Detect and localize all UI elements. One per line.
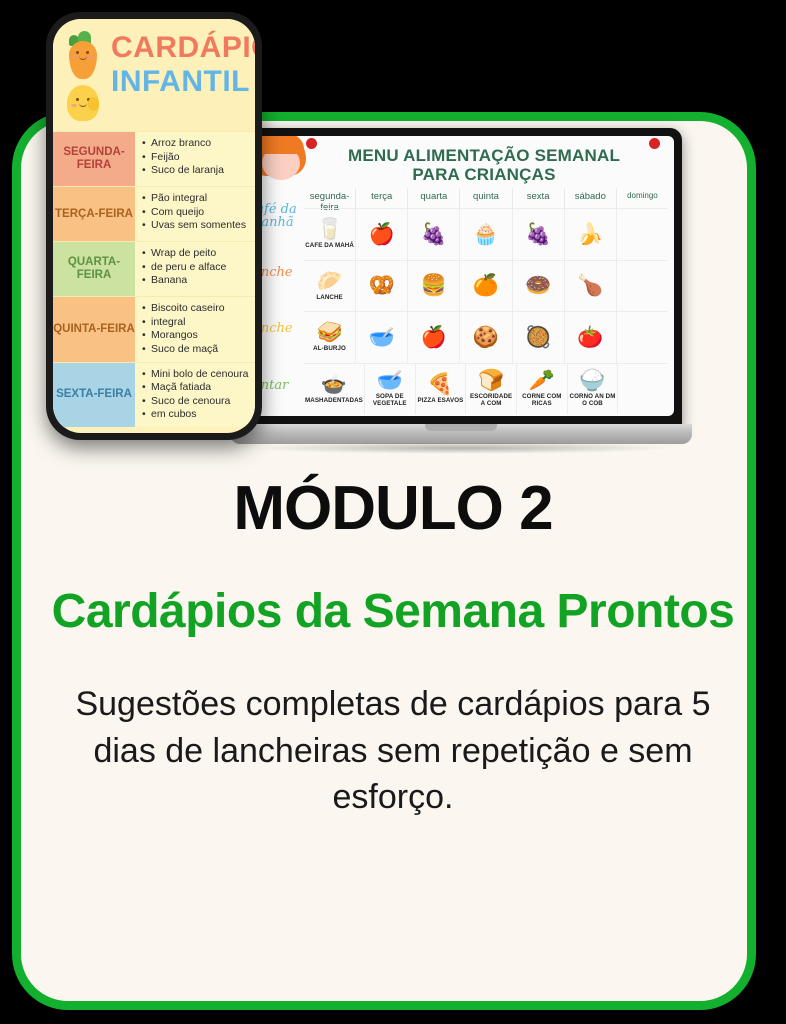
phone-day-items: Mini bolo de cenoura Maçã fatiada Suco d… [135,363,255,428]
menu-cell: 🍇 [512,208,564,260]
laptop-menu-title: MENU ALIMENTAÇÃO SEMANAL PARA CRIANÇAS [304,146,664,185]
table-row: 🥛CAFE DA MAHÁ 🍎 🍇 🧁 🍇 🍌 [304,208,668,260]
menu-cell-caption: CAFE DA MAHÁ [305,242,354,249]
menu-cell-empty [616,260,668,312]
menu-cell-caption: ESCORIDADE A COM [467,393,515,407]
list-item: QUARTA-FEIRA Wrap de peito de peru e alf… [53,241,255,296]
page-title: MÓDULO 2 [0,478,786,540]
menu-item: Wrap de peito [142,247,253,261]
menu-item: Biscoito caseiro [142,302,253,316]
pretzel-icon: 🥨 [369,275,395,296]
phone-mockup: CARDÁPIO INFANTIL SEGUNDA-FEIRA Arroz br… [46,12,262,440]
stew-icon: 🥘 [525,327,551,348]
menu-cell: 🍊 [459,260,511,312]
rice-bowl-icon: 🍚 [579,370,605,391]
subtitle: Cardápios da Semana Prontos [24,584,762,641]
phone-day-items: Pão integral Com queijo Uvas sem somente… [135,187,255,241]
menu-item: Arroz branco [142,137,253,151]
orange-icon: 🍊 [473,275,499,296]
burger-icon: 🍔 [421,275,447,296]
laptop-notch [425,424,497,431]
phone-day-label-quarta: QUARTA-FEIRA [53,242,135,296]
phone-day-label-sexta: SEXTA-FEIRA [53,363,135,428]
chicken-leg-icon: 🍗 [577,275,603,296]
grapes-icon: 🍇 [525,224,551,245]
menu-cell-caption: SOPA DE VEGETALE [366,393,414,407]
pizza-icon: 🍕 [427,374,453,395]
laptop-menu-table: segunda-feira terça quarta quinta sexta … [304,188,668,414]
table-row: 🥪AL-BURJO 🥣 🍎 🍪 🥘 🍅 [304,311,668,363]
menu-cell: 🥛CAFE DA MAHÁ [304,208,355,260]
menu-cell: 🍅 [564,311,616,363]
menu-item: Uvas sem somentes [142,219,253,233]
menu-cell-caption: LANCHE [316,294,342,301]
day-header-quinta: quinta [459,188,511,208]
phone-day-items: Arroz branco Feijão Suco de laranja [135,132,255,186]
menu-item: Pão integral [142,192,253,206]
carrot-icon: 🥕 [529,370,555,391]
menu-cell: 🥕CORNE COM RICAS [516,363,567,415]
chick-mascot-icon [64,81,102,125]
description-text: Sugestões completas de cardápios para 5 … [40,681,746,822]
list-item: SEGUNDA-FEIRA Arroz branco Feijão Suco d… [53,131,255,186]
menu-cell-caption: AL-BURJO [313,345,346,352]
menu-cell: 🧁 [459,208,511,260]
phone-day-items: Wrap de peito de peru e alface Banana [135,242,255,296]
menu-cell-empty [616,311,668,363]
menu-cell: 🍞ESCORIDADE A COM [465,363,516,415]
menu-item-cont: integral [142,316,253,330]
menu-cell: 🍕PIZZA ESAVOS [415,363,466,415]
menu-cell: 🍇 [407,208,459,260]
table-row: 🥟LANCHE 🥨 🍔 🍊 🍩 🍗 [304,260,668,312]
menu-cell-caption: CORNO AN DM O COB [569,393,617,407]
soup-icon: 🍲 [321,374,347,395]
drink-icon: 🥛 [316,219,342,240]
menu-cell: 🥘 [512,311,564,363]
laptop-screen: MENU ALIMENTAÇÃO SEMANAL PARA CRIANÇAS c… [248,136,674,416]
table-row: 🍲MASHADENTADAS 🥣SOPA DE VEGETALE 🍕PIZZA … [304,363,668,415]
device-mockup-group: MENU ALIMENTAÇÃO SEMANAL PARA CRIANÇAS c… [0,0,786,480]
grapes-icon: 🍇 [421,224,447,245]
laptop-lid: MENU ALIMENTAÇÃO SEMANAL PARA CRIANÇAS c… [240,128,682,428]
laptop-title-line1: MENU ALIMENTAÇÃO SEMANAL [304,146,664,165]
day-header-segunda: segunda-feira [304,188,355,208]
menu-item: Banana [142,274,253,288]
bread-icon: 🍞 [478,370,504,391]
list-item: TERÇA-FEIRA Pão integral Com queijo Uvas… [53,186,255,241]
menu-cell: 🍗 [564,260,616,312]
sandwich-icon: 🥪 [316,322,342,343]
menu-item-cont: em cubos [142,408,253,422]
phone-header: CARDÁPIO INFANTIL [53,19,255,131]
apple-icon: 🍎 [369,224,395,245]
day-header-quarta: quarta [407,188,459,208]
menu-cell: 🥪AL-BURJO [304,311,355,363]
carrot-mascot-icon [65,31,101,79]
menu-cell: 🥨 [355,260,407,312]
menu-item: Feijão [142,151,253,165]
banana-icon: 🍌 [577,224,603,245]
menu-cell: 🍎 [355,208,407,260]
text-content-block: MÓDULO 2 Cardápios da Semana Prontos Sug… [0,478,786,821]
menu-cell-caption: MASHADENTADAS [305,397,363,404]
phone-day-label-segunda: SEGUNDA-FEIRA [53,132,135,186]
bowl-icon: 🥣 [377,370,403,391]
phone-screen: CARDÁPIO INFANTIL SEGUNDA-FEIRA Arroz br… [53,19,255,433]
apple-icon: 🍎 [421,327,447,348]
menu-cell: 🍚CORNO AN DM O COB [567,363,618,415]
menu-cell: 🍎 [407,311,459,363]
menu-cell: 🍔 [407,260,459,312]
phone-mascots [59,29,113,127]
menu-cell: 🥣SOPA DE VEGETALE [364,363,415,415]
laptop-mockup: MENU ALIMENTAÇÃO SEMANAL PARA CRIANÇAS c… [230,128,692,458]
menu-item: Morangos [142,329,253,343]
menu-cell: 🍩 [512,260,564,312]
phone-day-label-quinta: QUINTA-FEIRA [53,297,135,362]
phone-title: CARDÁPIO INFANTIL [111,33,255,97]
menu-cell: 🍌 [564,208,616,260]
phone-day-label-terca: TERÇA-FEIRA [53,187,135,241]
bowl-icon: 🥣 [369,327,395,348]
list-item: QUINTA-FEIRA Biscoito caseiro integral M… [53,296,255,362]
muffin-icon: 🧁 [473,224,499,245]
day-header-sexta: sexta [512,188,564,208]
phone-title-line1: CARDÁPIO [111,33,255,63]
menu-item: Suco de laranja [142,164,253,178]
menu-item-cont: de peru e alface [142,261,253,275]
day-header-terca: terça [355,188,407,208]
promo-card-stage: MENU ALIMENTAÇÃO SEMANAL PARA CRIANÇAS c… [0,0,786,1024]
menu-cell: 🍲MASHADENTADAS [304,363,364,415]
menu-cell: 🥟LANCHE [304,260,355,312]
menu-item: Mini bolo de cenoura [142,368,253,382]
menu-item: Com queijo [142,206,253,220]
phone-title-line2: INFANTIL [111,67,255,97]
menu-cell-caption: PIZZA ESAVOS [417,397,463,404]
cookie-icon: 🍪 [473,327,499,348]
menu-item: Suco de cenoura [142,395,253,409]
phone-day-items: Biscoito caseiro integral Morangos Suco … [135,297,255,362]
menu-cell: 🍪 [459,311,511,363]
donut-icon: 🍩 [525,275,551,296]
phone-weekly-menu-list: SEGUNDA-FEIRA Arroz branco Feijão Suco d… [53,131,255,427]
tomato-icon: 🍅 [577,327,603,348]
table-header-row: segunda-feira terça quarta quinta sexta … [304,188,668,208]
menu-item: Suco de maçã [142,343,253,357]
list-item: SEXTA-FEIRA Mini bolo de cenoura Maçã fa… [53,362,255,428]
menu-cell-empty [617,363,668,415]
day-header-domingo: domingo [616,188,668,208]
menu-cell: 🥣 [355,311,407,363]
menu-item: Maçã fatiada [142,381,253,395]
menu-cell-caption: CORNE COM RICAS [518,393,566,407]
laptop-title-line2: PARA CRIANÇAS [304,165,664,184]
menu-cell-empty [616,208,668,260]
pastry-icon: 🥟 [316,271,342,292]
laptop-shadow [246,442,676,454]
day-header-sabado: sábado [564,188,616,208]
